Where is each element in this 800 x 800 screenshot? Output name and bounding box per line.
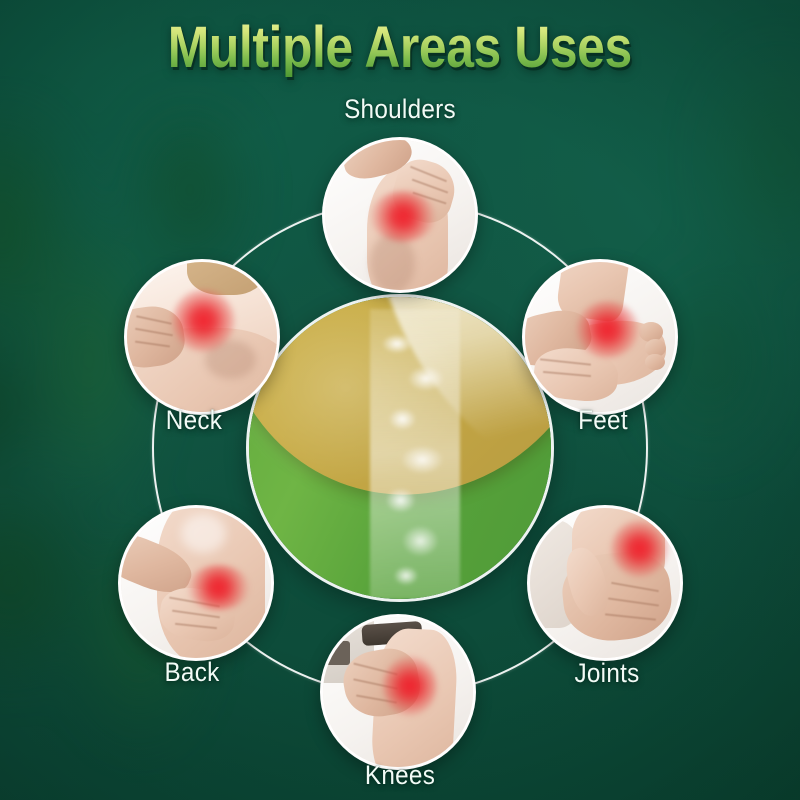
node-label-knees: Knees bbox=[365, 760, 435, 791]
back-pain-photo bbox=[121, 508, 271, 658]
gel-sheen bbox=[249, 297, 551, 599]
pain-marker bbox=[172, 289, 235, 352]
node-knees-photo-disc bbox=[320, 614, 476, 770]
pain-marker bbox=[187, 565, 250, 610]
toe-shape bbox=[645, 354, 665, 371]
node-shoulders-photo-disc bbox=[322, 137, 478, 293]
shoulder-pain-photo bbox=[325, 140, 475, 290]
node-joints[interactable] bbox=[527, 505, 683, 661]
node-back[interactable] bbox=[118, 505, 274, 661]
node-label-joints: Joints bbox=[574, 658, 639, 689]
node-label-feet: Feet bbox=[578, 405, 628, 436]
knee-pain-photo bbox=[323, 617, 473, 767]
page-title: Multiple Areas Uses bbox=[168, 18, 632, 77]
node-feet[interactable] bbox=[522, 259, 678, 415]
node-label-shoulders: Shoulders bbox=[344, 94, 456, 125]
center-product-circle bbox=[246, 294, 554, 602]
node-joints-photo-disc bbox=[527, 505, 683, 661]
infographic-stage: Multiple Areas Uses bbox=[0, 0, 800, 800]
node-neck-photo-disc bbox=[124, 259, 280, 415]
node-feet-photo-disc bbox=[522, 259, 678, 415]
node-neck[interactable] bbox=[124, 259, 280, 415]
joint-pain-photo bbox=[530, 508, 680, 658]
node-shoulders[interactable] bbox=[322, 137, 478, 293]
pain-marker bbox=[611, 520, 668, 577]
product-gel-photo bbox=[249, 297, 551, 599]
feet-pain-photo bbox=[525, 262, 675, 412]
neck-pain-photo bbox=[127, 262, 277, 412]
node-knees[interactable] bbox=[320, 614, 476, 770]
torso-shadow bbox=[370, 233, 415, 293]
node-label-neck: Neck bbox=[166, 405, 222, 436]
pain-marker bbox=[370, 191, 436, 242]
furniture-shape bbox=[326, 641, 350, 665]
node-back-photo-disc bbox=[118, 505, 274, 661]
title-container: Multiple Areas Uses bbox=[0, 18, 800, 77]
pain-marker bbox=[383, 656, 437, 716]
node-label-back: Back bbox=[164, 657, 219, 688]
pain-marker bbox=[576, 301, 639, 358]
shoulder-highlight bbox=[181, 514, 226, 553]
